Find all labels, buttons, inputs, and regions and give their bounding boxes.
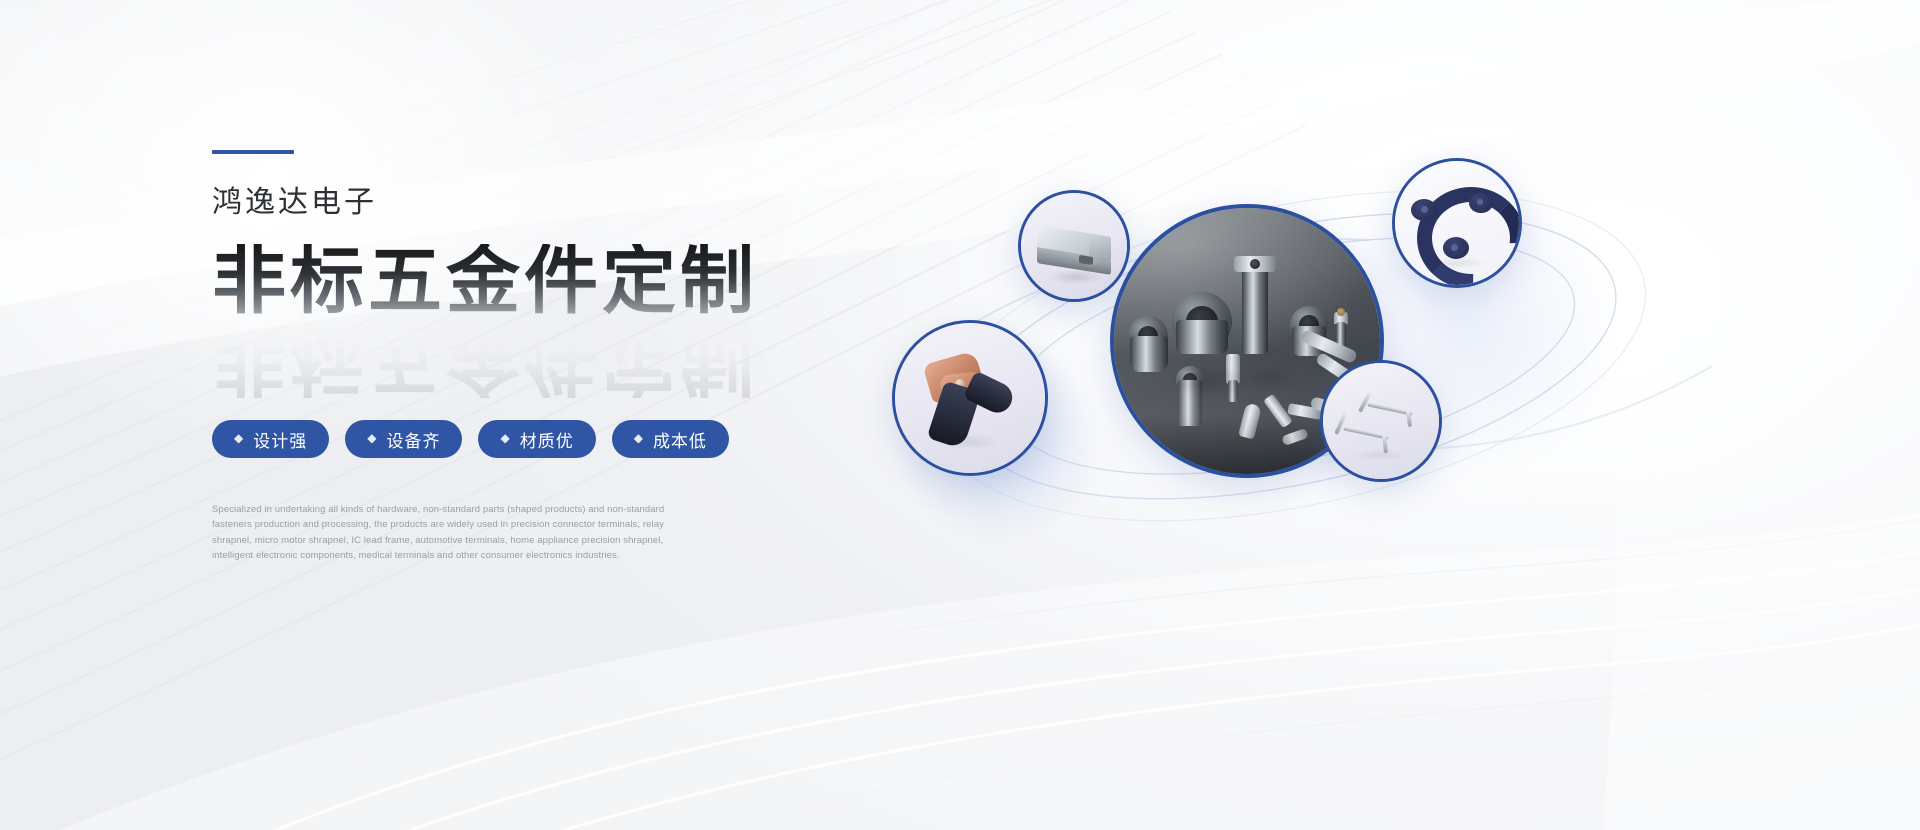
bubble-terminal-pins[interactable]: [1320, 360, 1442, 482]
badge-label: 成本低: [653, 427, 707, 452]
part-cylinder-tall: [1242, 270, 1268, 354]
banner-copy: 鸿逸达电子 非标五金件定制 非标五金件定制 ◆ 设计强 ◆ 设备齐 ◆ 材质优 …: [212, 150, 852, 564]
badge-label: 设计强: [253, 427, 307, 452]
badge-material[interactable]: ◆ 材质优: [478, 420, 595, 458]
ring-hole-left: [1421, 206, 1428, 213]
ring-hole-bottom: [1451, 244, 1458, 251]
part-ring-nut-body: [1176, 320, 1228, 354]
diamond-icon: ◆: [367, 432, 377, 444]
bubble-battery-clamp[interactable]: [892, 320, 1048, 476]
bubble-retaining-ring[interactable]: [1392, 158, 1522, 288]
part-brass-tip: [1337, 308, 1345, 316]
diamond-icon: ◆: [234, 432, 244, 444]
feature-badge-list: ◆ 设计强 ◆ 设备齐 ◆ 材质优 ◆ 成本低: [212, 420, 852, 458]
brand-name: 鸿逸达电子: [212, 188, 852, 218]
accent-rule: [212, 150, 294, 154]
badge-design[interactable]: ◆ 设计强: [212, 420, 329, 458]
badge-label: 设备齐: [386, 427, 440, 452]
page-title: 非标五金件定制: [212, 244, 852, 318]
part-cap-bore: [1250, 259, 1260, 269]
badge-equipment[interactable]: ◆ 设备齐: [345, 420, 462, 458]
product-visual-cluster: [900, 120, 1720, 540]
headline-block: 非标五金件定制 非标五金件定制: [212, 244, 852, 376]
badge-cost[interactable]: ◆ 成本低: [612, 420, 729, 458]
headline-reflection: 非标五金件定制: [212, 324, 758, 398]
diamond-icon: ◆: [500, 432, 510, 444]
ring-hole-right: [1477, 199, 1483, 205]
description-paragraph: Specialized in undertaking all kinds of …: [212, 502, 682, 564]
hero-banner: 鸿逸达电子 非标五金件定制 非标五金件定制 ◆ 设计强 ◆ 设备齐 ◆ 材质优 …: [0, 0, 1920, 830]
badge-label: 材质优: [520, 427, 574, 452]
diamond-icon: ◆: [634, 432, 644, 444]
